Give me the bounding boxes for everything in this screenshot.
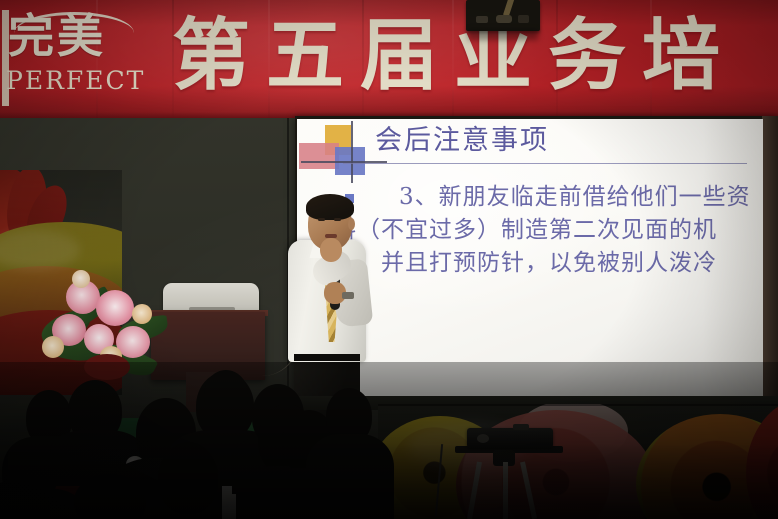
deco-pink-square: [299, 143, 339, 169]
audience-darkening: [0, 362, 778, 519]
presenter-eye: [318, 218, 325, 221]
logo-chinese-text: 完美: [8, 8, 138, 64]
slide-body-text: 3、新朋友临走前借给他们一些资料（不宜过多）制造第二次见面的机会，并且打预防针，…: [333, 181, 753, 381]
screen-right-border: [762, 116, 778, 400]
wristwatch: [342, 292, 354, 299]
slide-title: 会后注意事项: [375, 121, 705, 161]
audience-silhouettes: [0, 362, 778, 519]
logo-english-text: PERFECT: [6, 66, 142, 96]
presenter-hair: [306, 194, 354, 220]
rose-flower: [72, 270, 90, 288]
red-event-banner: 完美 PERFECT 第五届业务培: [0, 0, 778, 119]
fixture-lens: [476, 16, 488, 23]
screen-edge-shading: [703, 119, 763, 396]
presenter-ear: [348, 218, 355, 230]
rose-flower: [42, 336, 64, 358]
fixture-arm: [503, 0, 515, 16]
presenter-belt: [294, 354, 360, 361]
deco-vertical-rule: [351, 121, 353, 183]
projector-fixture-icon: [466, 0, 540, 31]
fixture-lens: [518, 15, 529, 23]
lily-flower: [96, 290, 134, 326]
rose-flower: [132, 304, 152, 324]
slide-title-underline: [343, 163, 747, 164]
perfect-brand-logo: 完美 PERFECT: [2, 6, 142, 104]
seminar-photo-stage: 完美 PERFECT 第五届业务培: [0, 0, 778, 519]
fixture-lens: [496, 15, 512, 23]
fixture-shadow: [468, 30, 538, 40]
presenter-hand: [320, 238, 342, 262]
presenter-eye: [334, 218, 341, 221]
